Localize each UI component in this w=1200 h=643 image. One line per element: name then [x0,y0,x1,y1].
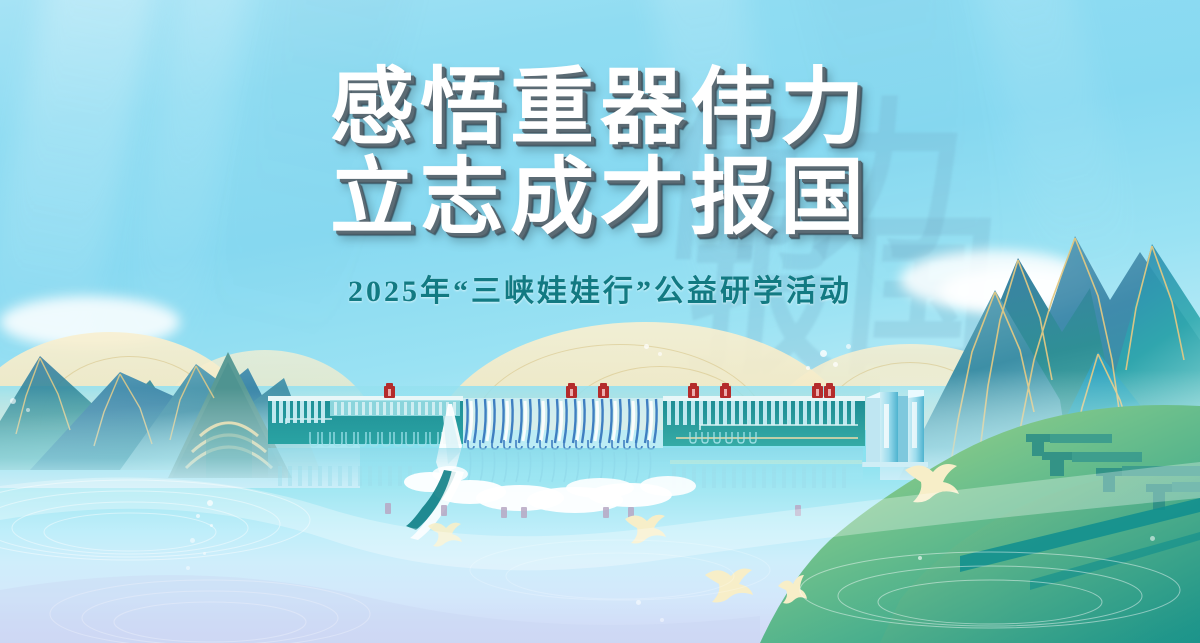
bubble-dot [820,350,827,357]
bubble-dot [806,366,810,370]
banner-headline-block: 感悟重器伟力 立志成才报国 2025年“三峡娃娃行”公益研学活动 [0,62,1200,310]
bubble-dot [190,538,195,543]
promo-banner: 伟力 报国 [0,0,1200,643]
bubble-dot [186,566,190,570]
bubble-dot [1150,536,1155,541]
bubble-dot [918,556,922,560]
headline-line-1: 感悟重器伟力 [0,62,1200,152]
bubble-dot [833,362,838,367]
bubble-dot [644,344,649,349]
bubble-dot [207,500,213,506]
bubble-dot [26,408,30,412]
bubble-dot [846,344,851,349]
bubble-dot [660,618,664,622]
water-horizon-haze [0,386,1200,466]
bubble-dot [658,352,662,356]
bubble-dot [203,552,206,555]
headline-line-2: 立志成才报国 [0,152,1200,242]
bubble-dot [10,398,16,404]
bubble-dot [196,514,200,518]
bubble-dot [636,600,641,605]
banner-subtitle: 2025年“三峡娃娃行”公益研学活动 [0,266,1200,310]
bubble-dot [210,524,213,527]
